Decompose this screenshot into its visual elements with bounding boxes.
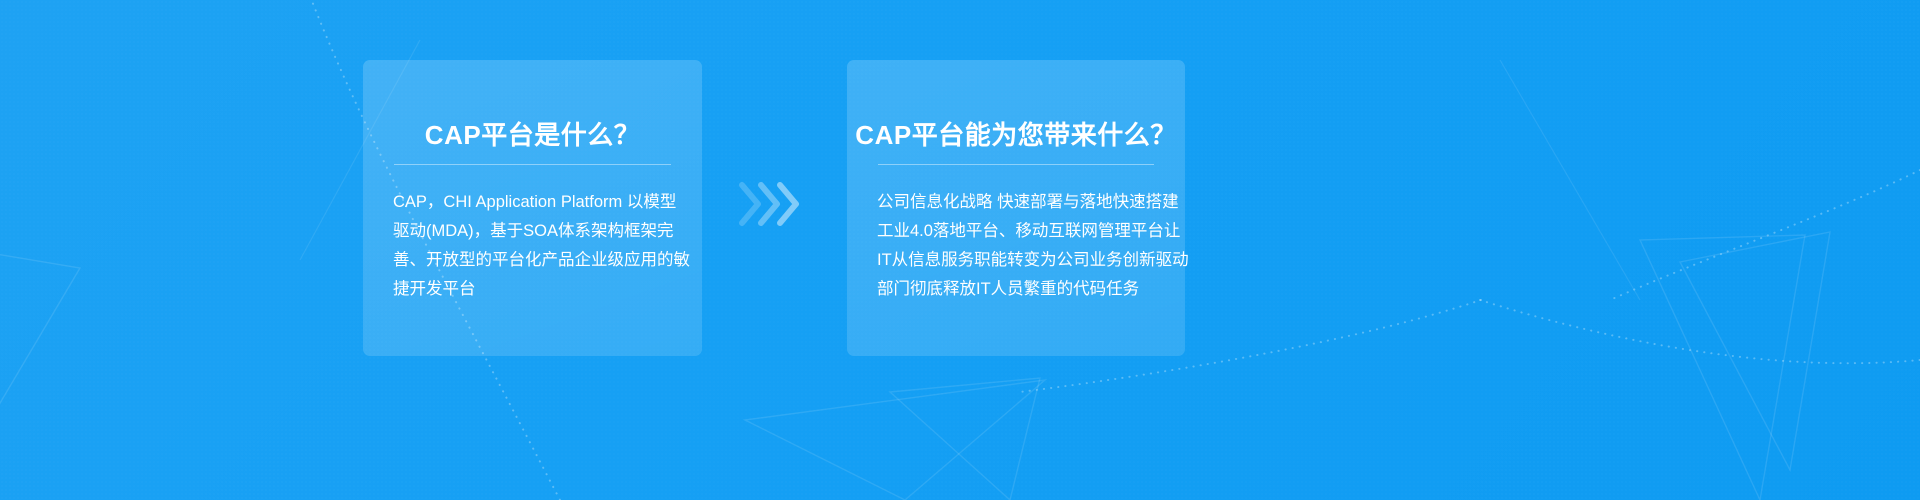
hero-banner: CAP平台是什么？ CAP，CHI Application Platform 以… [0,0,1920,500]
body-line: IT从信息服务职能转变为公司业务创新驱动 [877,246,1159,275]
card-group: CAP平台是什么？ CAP，CHI Application Platform 以… [0,0,1920,500]
card-divider [394,164,671,165]
card-title: CAP平台是什么？ [363,115,702,152]
body-line: 工业4.0落地平台、移动互联网管理平台让 [877,217,1159,246]
body-line: 捷开发平台 [393,275,676,304]
body-line: 驱动(MDA)，基于SOA体系架构框架完 [393,217,676,246]
body-line: 善、开放型的平台化产品企业级应用的敏 [393,246,676,275]
card-title: CAP平台能为您带来什么？ [847,115,1185,152]
body-line: 部门彻底释放IT人员繁重的代码任务 [877,275,1159,304]
body-line: 公司信息化战略 快速部署与落地快速搭建 [877,188,1159,217]
chevron-right-icon [776,180,802,228]
card-what-is-cap[interactable]: CAP平台是什么？ CAP，CHI Application Platform 以… [363,60,702,356]
chevron-arrows [738,180,810,228]
card-body: 公司信息化战略 快速部署与落地快速搭建 工业4.0落地平台、移动互联网管理平台让… [877,188,1159,304]
card-body: CAP，CHI Application Platform 以模型 驱动(MDA)… [393,188,676,304]
body-line: CAP，CHI Application Platform 以模型 [393,188,676,217]
card-cap-benefits[interactable]: CAP平台能为您带来什么？ 公司信息化战略 快速部署与落地快速搭建 工业4.0落… [847,60,1185,356]
card-divider [878,164,1154,165]
